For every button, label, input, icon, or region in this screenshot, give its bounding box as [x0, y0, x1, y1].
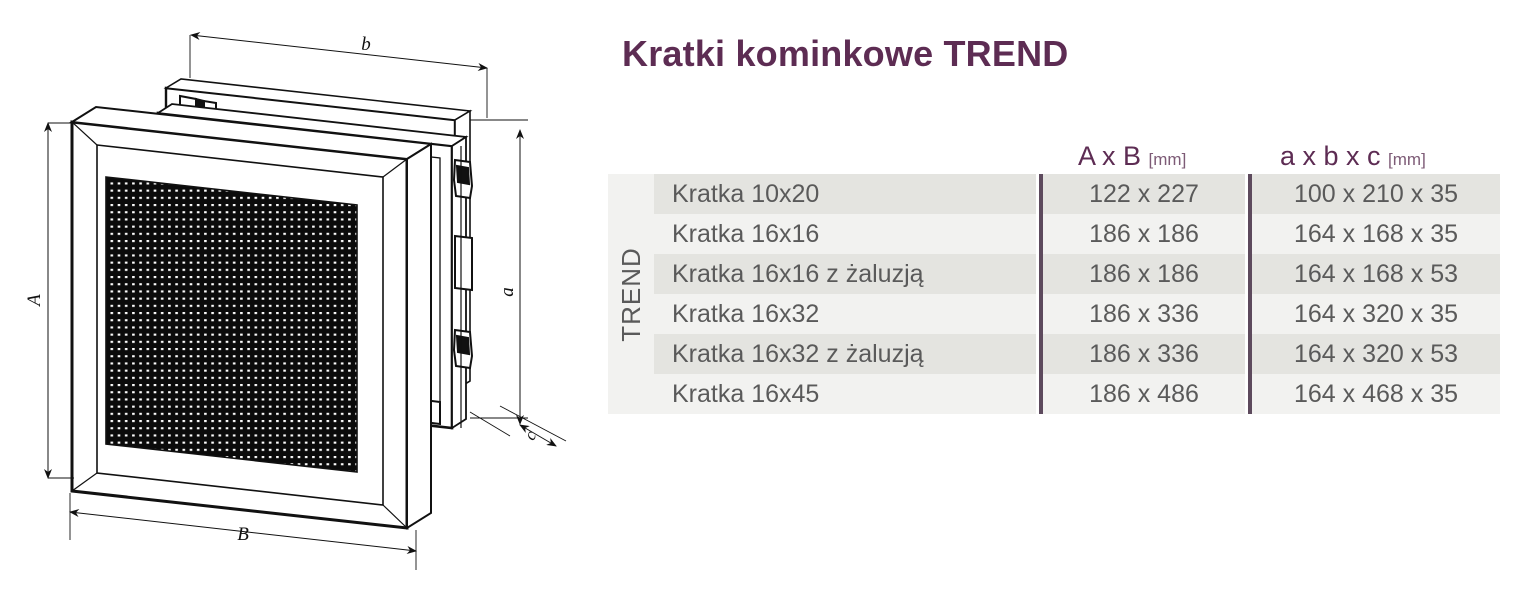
table-rows-container: Kratka 10x20 122 x 227 100 x 210 x 35 Kr…: [654, 174, 1500, 414]
cell-a-x-b-x-c: 164 x 168 x 35: [1252, 214, 1500, 254]
dimension-label-B: B: [237, 524, 249, 545]
column-separator-2: [1248, 174, 1252, 414]
dimension-label-A: A: [24, 294, 45, 308]
table-row[interactable]: Kratka 16x45 186 x 486 164 x 468 x 35: [654, 374, 1500, 414]
cell-product-name: Kratka 10x20: [654, 174, 1036, 214]
table-group-label: TREND: [616, 247, 647, 342]
table-row[interactable]: Kratka 16x32 186 x 336 164 x 320 x 35: [654, 294, 1500, 334]
page-root: b A B a c Kratki kominkowe TREND A x B […: [0, 0, 1537, 605]
column-header-a-x-b-x-c: a x b x c [mm]: [1280, 141, 1426, 172]
specification-panel: Kratki kominkowe TREND A x B [mm] a x b …: [600, 0, 1537, 605]
table-row[interactable]: Kratka 16x16 186 x 186 164 x 168 x 35: [654, 214, 1500, 254]
cell-a-x-b: 186 x 336: [1043, 294, 1245, 334]
table-group-column: TREND: [608, 174, 654, 414]
page-title: Kratki kominkowe TREND: [622, 33, 1069, 75]
product-technical-drawing: b A B a c: [0, 0, 600, 605]
cell-product-name: Kratka 16x45: [654, 374, 1036, 414]
cell-a-x-b: 186 x 186: [1043, 214, 1245, 254]
cell-a-x-b-x-c: 164 x 320 x 53: [1252, 334, 1500, 374]
cell-a-x-b: 186 x 336: [1043, 334, 1245, 374]
dimension-label-a: a: [497, 287, 518, 297]
cell-a-x-b-x-c: 164 x 320 x 35: [1252, 294, 1500, 334]
cell-a-x-b: 186 x 486: [1043, 374, 1245, 414]
cell-a-x-b-x-c: 164 x 468 x 35: [1252, 374, 1500, 414]
dimension-label-b: b: [361, 34, 371, 55]
column-header-a-x-b-x-c-label: a x b x c: [1280, 141, 1388, 171]
cell-a-x-b: 186 x 186: [1043, 254, 1245, 294]
table-row[interactable]: Kratka 10x20 122 x 227 100 x 210 x 35: [654, 174, 1500, 214]
cell-a-x-b-x-c: 100 x 210 x 35: [1252, 174, 1500, 214]
column-header-a-x-b: A x B [mm]: [1078, 141, 1186, 172]
table-row[interactable]: Kratka 16x32 z żaluzją 186 x 336 164 x 3…: [654, 334, 1500, 374]
table-row[interactable]: Kratka 16x16 z żaluzją 186 x 186 164 x 1…: [654, 254, 1500, 294]
column-separator-1: [1039, 174, 1043, 414]
column-header-a-x-b-x-c-unit: [mm]: [1388, 150, 1426, 169]
column-header-a-x-b-unit: [mm]: [1149, 150, 1187, 169]
cell-product-name: Kratka 16x32 z żaluzją: [654, 334, 1036, 374]
specification-table: A x B [mm] a x b x c [mm] TREND Kratka 1…: [608, 128, 1500, 414]
cell-a-x-b: 122 x 227: [1043, 174, 1245, 214]
table-body: TREND Kratka 10x20 122 x 227 100 x 210 x…: [608, 174, 1500, 414]
column-header-a-x-b-label: A x B: [1078, 141, 1149, 171]
cell-product-name: Kratka 16x16: [654, 214, 1036, 254]
cell-a-x-b-x-c: 164 x 168 x 53: [1252, 254, 1500, 294]
dimension-label-c: c: [520, 427, 541, 443]
table-column-headers: A x B [mm] a x b x c [mm]: [608, 128, 1500, 174]
cell-product-name: Kratka 16x32: [654, 294, 1036, 334]
grille-isometric-svg: b A B a c: [0, 0, 600, 605]
cell-product-name: Kratka 16x16 z żaluzją: [654, 254, 1036, 294]
